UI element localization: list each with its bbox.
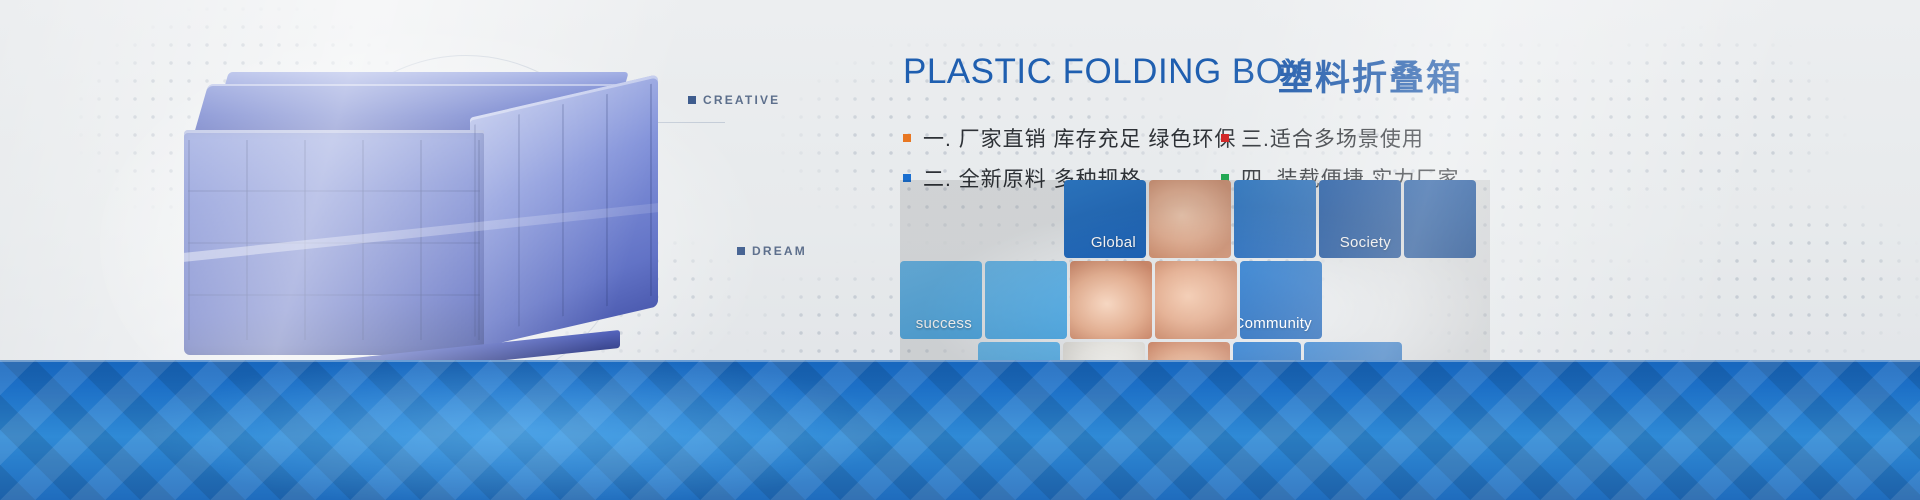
bottom-blue-band [0, 360, 1920, 500]
mosaic-tile-plain-c [985, 261, 1067, 339]
mosaic-tile-plain-a [1234, 180, 1316, 258]
page-title-chinese: 塑料折叠箱 [1278, 50, 1463, 101]
mosaic-tile-caption: Society [1340, 234, 1401, 258]
mosaic-tile-plain-b [1404, 180, 1476, 258]
mosaic-tile-photo-c [1155, 261, 1237, 339]
mosaic-tile-caption: Community [1240, 315, 1322, 339]
plastic-crate-illustration [170, 60, 690, 400]
mosaic-tile-society: Society [1319, 180, 1401, 258]
feature-label: 一. 厂家直销 库存充足 绿色环保 [923, 123, 1236, 153]
mosaic-tile-caption: Global [1091, 234, 1146, 258]
bg-tag-label: DREAM [752, 244, 807, 258]
feature-item-3: 三.适合多场景使用 [1221, 118, 1460, 158]
mosaic-tile-global: Global [1064, 180, 1146, 258]
bg-tag-creative: CREATIVE [688, 93, 780, 107]
page-title-english: PLASTIC FOLDING BOX [903, 52, 1307, 92]
feature-label: 三.适合多场景使用 [1241, 123, 1424, 153]
bullet-square-icon [1221, 134, 1229, 142]
mosaic-tile-community: Community [1240, 261, 1322, 339]
mosaic-tile-photo-b [1070, 261, 1152, 339]
band-glow [140, 360, 900, 500]
mosaic-tile-success: success [900, 261, 982, 339]
feature-item-1: 一. 厂家直销 库存充足 绿色环保 [903, 118, 1236, 158]
mosaic-tile-photo-a [1149, 180, 1231, 258]
mosaic-tile-caption: success [916, 315, 982, 339]
bg-tag-label: CREATIVE [703, 93, 780, 107]
bullet-square-icon [903, 134, 911, 142]
product-banner: GLOBAL CREATIVE DIGITAL DREAM PLASTIC FO… [0, 0, 1920, 500]
product-image-folding-crate [170, 60, 690, 400]
band-top-edge [0, 360, 1920, 362]
